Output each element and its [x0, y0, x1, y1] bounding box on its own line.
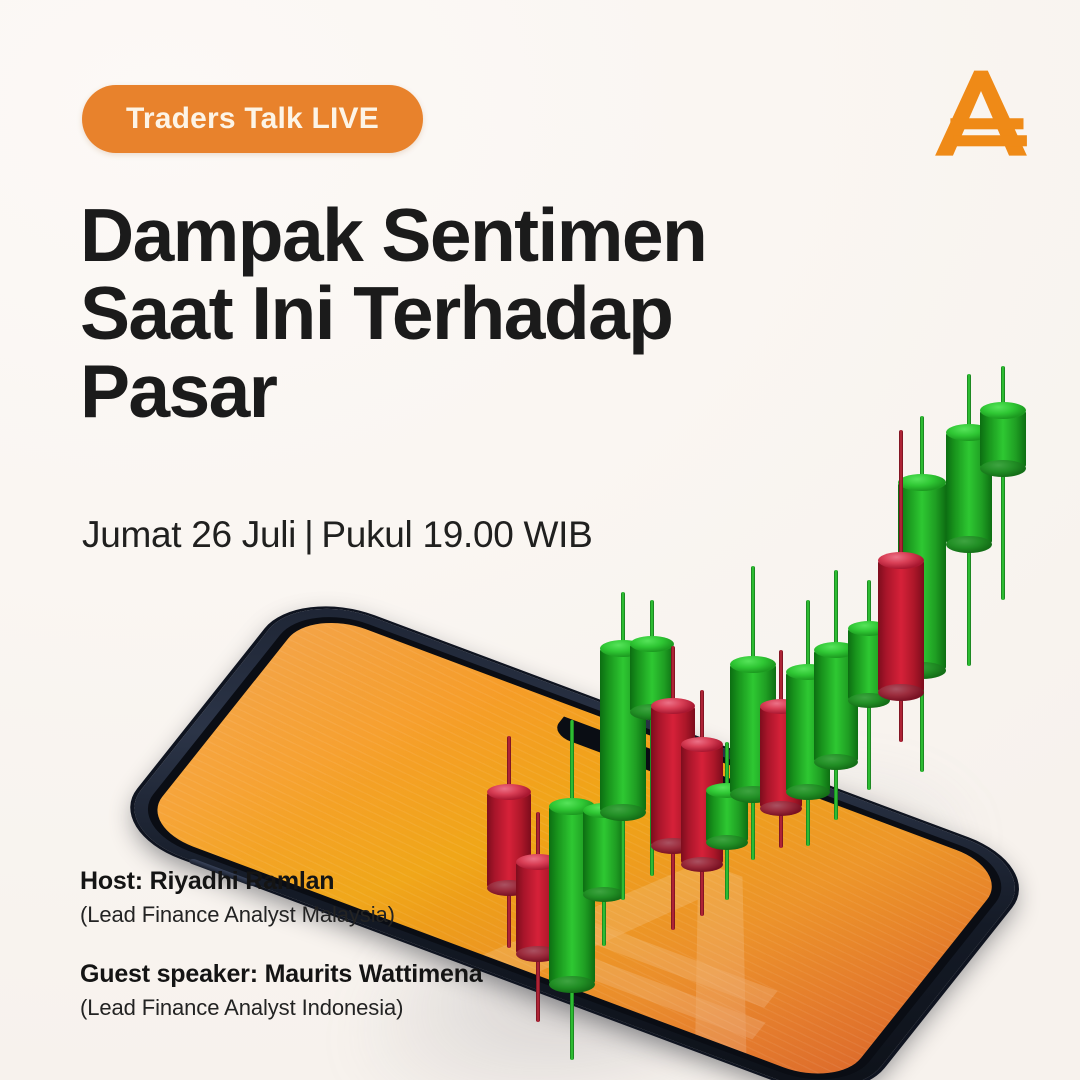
- candle-body: [878, 560, 924, 692]
- live-badge[interactable]: Traders Talk LIVE: [82, 85, 423, 153]
- guest-credit: Guest speaker: Maurits Wattimena (Lead F…: [80, 959, 600, 1022]
- candlestick-up: [980, 366, 1026, 600]
- host-name: Host: Riyadhi Ramlan: [80, 866, 600, 897]
- host-role: (Lead Finance Analyst Malaysia): [80, 900, 600, 929]
- candle-bottom-cap: [878, 684, 924, 701]
- schedule-line: Jumat 26 Juli|Pukul 19.00 WIB: [82, 514, 593, 556]
- credits-block: Host: Riyadhi Ramlan (Lead Finance Analy…: [80, 866, 600, 1023]
- guest-role: (Lead Finance Analyst Indonesia): [80, 993, 600, 1022]
- candle-top-cap: [878, 552, 924, 569]
- page-title: Dampak Sentimen Saat Ini Terhadap Pasar: [80, 196, 810, 430]
- schedule-separator: |: [296, 514, 321, 556]
- host-credit: Host: Riyadhi Ramlan (Lead Finance Analy…: [80, 866, 600, 929]
- candle-bottom-cap: [980, 460, 1026, 477]
- candlestick-down: [878, 430, 924, 742]
- live-badge-label: Traders Talk LIVE: [126, 102, 379, 136]
- page-title-line-1: Dampak Sentimen: [80, 196, 810, 274]
- brand-logo-icon: [930, 64, 1032, 164]
- page-title-line-3: Pasar: [80, 352, 810, 430]
- candle-top-cap: [980, 402, 1026, 419]
- poster-canvas: Traders Talk LIVE Dampak Sentimen Saat I…: [0, 0, 1080, 1080]
- guest-name: Guest speaker: Maurits Wattimena: [80, 959, 600, 990]
- schedule-date: Jumat 26 Juli: [82, 514, 296, 555]
- page-title-line-2: Saat Ini Terhadap: [80, 274, 810, 352]
- candle-top-cap: [487, 784, 531, 800]
- schedule-time: Pukul 19.00 WIB: [321, 514, 592, 555]
